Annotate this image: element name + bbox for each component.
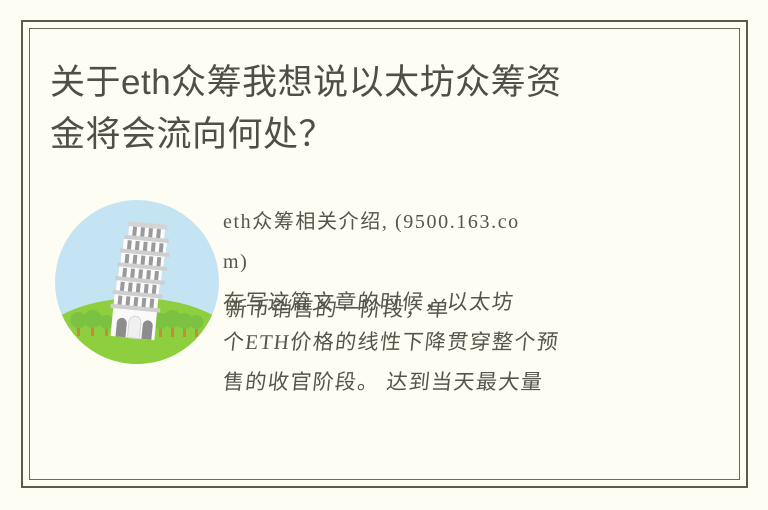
illustration-container <box>55 200 219 364</box>
title-line-2: 金将会流向何处？ <box>50 115 334 154</box>
title-line-1: 关于eth众筹我想说以太坊众筹资 <box>50 63 562 102</box>
body-line-1: eth众筹相关介绍, (9500.163.co <box>223 202 738 242</box>
article-content-area: 关于eth众筹我想说以太坊众筹资金将会流向何处？ <box>31 30 738 478</box>
leaning-tower-of-pisa-icon <box>55 200 219 364</box>
body-line-2: m) <box>223 242 738 282</box>
page-title: 关于eth众筹我想说以太坊众筹资金将会流向何处？ <box>50 57 710 161</box>
body-line-3-overlap: 在写这篇文章的时候，以太坊 新币销售的一阶段，单 <box>223 282 738 322</box>
article-body: eth众筹相关介绍, (9500.163.co m) 在写这篇文章的时候，以太坊… <box>223 202 738 402</box>
body-line-4: 个ETH价格的线性下降贯穿整个预 <box>221 322 738 362</box>
article-page: 关于eth众筹我想说以太坊众筹资金将会流向何处？ <box>0 0 768 510</box>
body-line-5: 售的收官阶段。 达到当天最大量 <box>221 362 738 402</box>
